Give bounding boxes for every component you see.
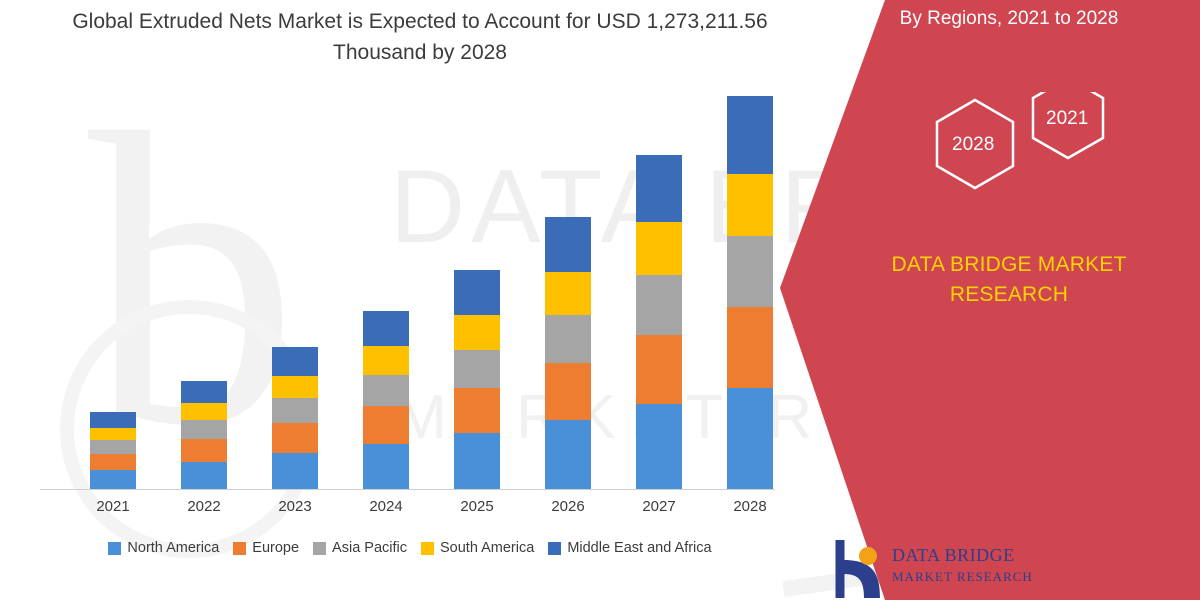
x-axis-tick-label: 2026 [523,498,613,515]
logo-text-line1: DATA BRIDGE [892,544,1033,566]
legend-label: Middle East and Africa [567,540,711,556]
legend-label: South America [440,540,534,556]
hexagon-icon [900,92,1140,212]
bar-segment [454,350,500,388]
hex-label-2021: 2021 [1046,108,1088,130]
bar-segment [363,406,409,443]
bar-segment [363,346,409,374]
bar-segment [272,347,318,375]
bar-segment [454,270,500,314]
bar-segment [727,96,773,174]
hex-label-2028: 2028 [952,134,994,156]
bar-segment [545,420,591,490]
bar-segment [90,440,136,454]
bar-segment [727,388,773,490]
bar-segment [636,335,682,404]
legend-item: South America [421,540,534,556]
legend-swatch [313,542,326,555]
bar-segment [90,412,136,428]
bar-segment [272,376,318,399]
bar-group [727,96,773,490]
bar-segment [727,236,773,306]
bar-segment [545,217,591,271]
bar-segment [636,275,682,335]
bar-segment [454,388,500,433]
bar-segment [545,363,591,420]
bar-segment [636,155,682,222]
panel-title: By Regions, 2021 to 2028 [844,6,1174,32]
x-axis-tick-label: 2024 [341,498,431,515]
legend-swatch [233,542,246,555]
bar-group [454,270,500,490]
bar-segment [90,428,136,440]
bar-segment [727,174,773,236]
legend-swatch [421,542,434,555]
bar-group [181,381,227,490]
bar-segment [181,381,227,403]
chart-title: Global Extruded Nets Market is Expected … [70,0,770,68]
legend-item: Europe [233,540,299,556]
legend-swatch [548,542,561,555]
bar-group [636,155,682,490]
legend-item: North America [108,540,219,556]
bar-segment [636,222,682,275]
bar-segment [181,403,227,420]
logo-text: DATA BRIDGE MARKET RESEARCH [892,544,1033,588]
bar-segment [454,315,500,350]
bar-segment [454,433,500,490]
chart-legend: North AmericaEuropeAsia PacificSouth Ame… [40,540,780,556]
bar-segment [272,453,318,490]
bar-segment [545,272,591,315]
x-axis-tick-label: 2023 [250,498,340,515]
regions-panel: By Regions, 2021 to 2028 2028 2021 DATA … [780,0,1200,600]
bar-segment [363,375,409,407]
bar-segment [545,315,591,364]
bar-segment [181,462,227,490]
legend-label: Asia Pacific [332,540,407,556]
x-axis-tick-label: 2022 [159,498,249,515]
bar-group [363,311,409,490]
bar-segment [181,420,227,439]
bar-segment [363,444,409,490]
company-logo: DATA BRIDGE MARKET RESEARCH [830,536,1060,606]
bar-segment [272,398,318,423]
bar-segment [181,439,227,462]
bar-segment [90,470,136,490]
x-axis-tick-label: 2027 [614,498,704,515]
legend-item: Middle East and Africa [548,540,711,556]
logo-text-line2: MARKET RESEARCH [892,566,1033,588]
legend-label: Europe [252,540,299,556]
bar-segment [363,311,409,346]
bar-group [90,412,136,490]
bar-segment [727,307,773,389]
legend-item: Asia Pacific [313,540,407,556]
x-axis-tick-label: 2025 [432,498,522,515]
bar-group [545,217,591,490]
legend-label: North America [127,540,219,556]
bar-group [272,347,318,490]
brand-name: DATA BRIDGE MARKET RESEARCH [844,250,1174,310]
x-axis-tick-label: 2021 [68,498,158,515]
bar-segment [272,423,318,452]
legend-swatch [108,542,121,555]
chart-plot-area [40,95,780,490]
bridge-logo-icon [830,536,890,604]
bar-segment [636,404,682,490]
hexagon-badges: 2028 2021 [900,92,1140,212]
x-axis-line [40,489,775,490]
bar-segment [90,454,136,470]
